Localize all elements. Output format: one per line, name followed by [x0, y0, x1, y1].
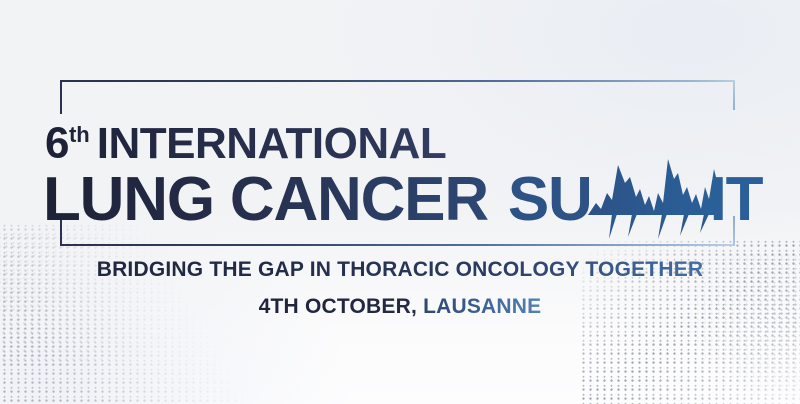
- event-banner: 6thINTERNATIONAL LUNG CANCER SU: [0, 0, 800, 404]
- summit-prefix: SU: [508, 169, 592, 231]
- word-summit: SU: [508, 158, 762, 231]
- title-line-main: LUNG CANCER SU: [43, 158, 762, 220]
- bracket-top-line: [60, 80, 735, 82]
- tagline: BRIDGING THE GAP IN THORACIC ONCOLOGY TO…: [0, 257, 800, 283]
- bracket-top-left-stub: [60, 80, 62, 114]
- bracket-top-right-stub: [733, 80, 735, 110]
- bracket-bottom-line: [60, 244, 735, 246]
- word-lung-cancer: LUNG CANCER: [43, 169, 488, 231]
- summit-suffix: IT: [710, 169, 763, 231]
- event-location: LAUSANNE: [423, 295, 541, 318]
- mountain-range-icon: [592, 158, 710, 220]
- edition-suffix: th: [69, 122, 90, 147]
- event-date: 4TH OCTOBER,: [259, 295, 417, 318]
- date-location-line: 4TH OCTOBER, LAUSANNE: [0, 294, 800, 320]
